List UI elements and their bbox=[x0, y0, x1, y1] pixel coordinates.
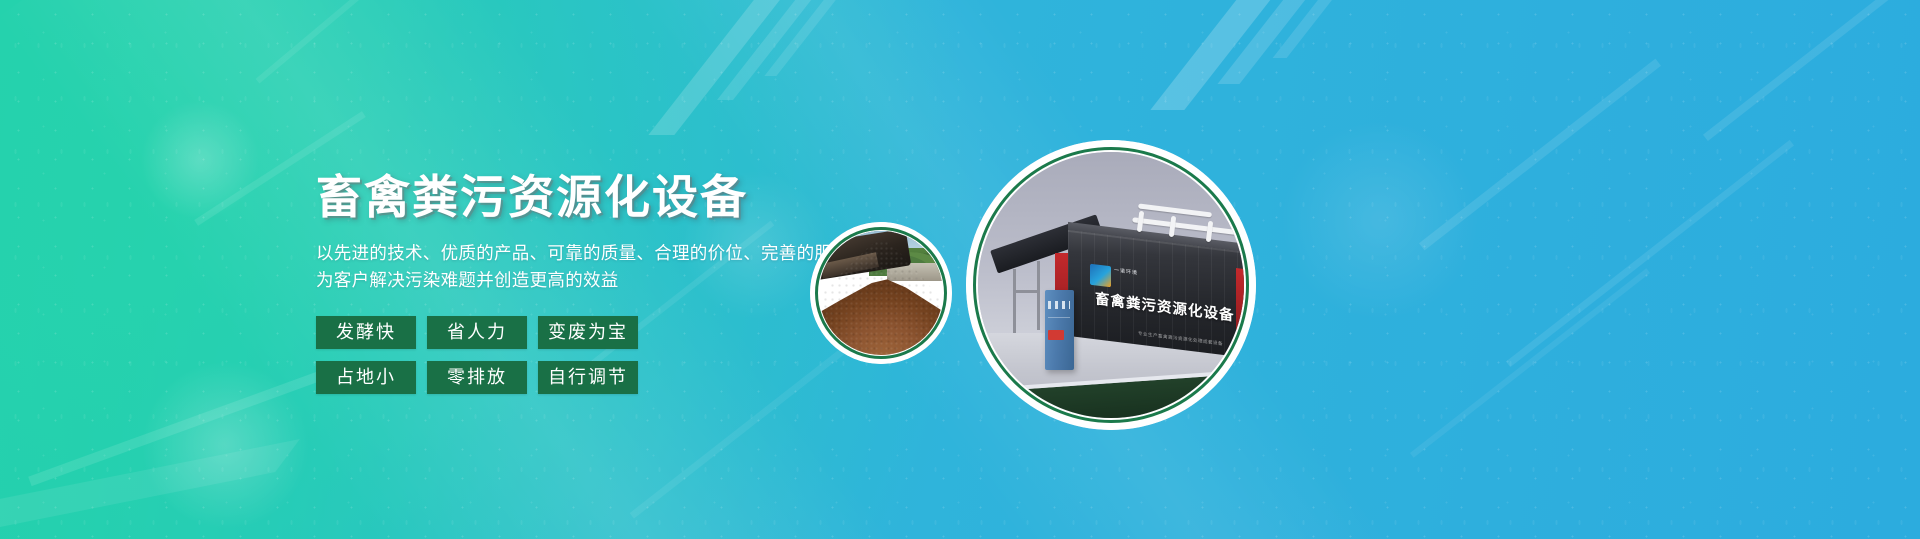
diagonal-stripe-decoration bbox=[648, 0, 787, 135]
feature-tag-labor-saving[interactable]: 省人力 bbox=[427, 316, 527, 349]
diagonal-stripe-decoration bbox=[1419, 59, 1661, 251]
subtitle-block: 以先进的技术、优质的产品、可靠的质量、合理的价位、完善的服务 为客户解决污染难题… bbox=[316, 240, 876, 294]
feature-tag-self-adjusting[interactable]: 自行调节 bbox=[538, 361, 638, 394]
page-title: 畜禽粪污资源化设备 bbox=[316, 168, 876, 226]
glow-decoration bbox=[1280, 120, 1480, 320]
cabinet-indicator-lights bbox=[1048, 301, 1069, 309]
conveyor-leg bbox=[1037, 261, 1040, 330]
diagonal-stripe-decoration bbox=[1150, 0, 1279, 110]
diagonal-stripe-decoration bbox=[1273, 0, 1342, 58]
compost-photo-circle[interactable] bbox=[810, 222, 952, 364]
diagonal-stripe-decoration bbox=[28, 364, 342, 486]
diagonal-stripe-decoration bbox=[764, 0, 843, 76]
diagonal-stripe-decoration bbox=[1217, 0, 1314, 84]
conveyor-leg-brace bbox=[1013, 290, 1040, 293]
diagonal-stripe-decoration bbox=[717, 0, 819, 100]
subtitle-line-2: 为客户解决污染难题并创造更高的效益 bbox=[316, 267, 876, 294]
promo-banner: 畜禽粪污资源化设备 以先进的技术、优质的产品、可靠的质量、合理的价位、完善的服务… bbox=[0, 0, 1920, 539]
compost-photo bbox=[819, 231, 943, 355]
subtitle-line-1: 以先进的技术、优质的产品、可靠的质量、合理的价位、完善的服务 bbox=[316, 240, 876, 267]
cabinet-emergency-button bbox=[1048, 330, 1064, 339]
diagonal-stripe-decoration bbox=[1410, 268, 1650, 457]
glow-decoration bbox=[140, 100, 260, 220]
feature-tag-zero-emission[interactable]: 零排放 bbox=[427, 361, 527, 394]
diagonal-stripe-decoration bbox=[256, 0, 375, 84]
equipment-render: 一诺环境 畜禽粪污资源化设备 专业生产畜禽粪污资源化处理成套设备 bbox=[978, 152, 1244, 418]
conveyor-leg bbox=[1013, 269, 1016, 333]
diagonal-stripe-decoration bbox=[0, 439, 300, 535]
container-red-endcap bbox=[1236, 268, 1244, 339]
glow-decoration bbox=[140, 360, 310, 530]
cabinet-divider bbox=[1048, 317, 1069, 318]
feature-tag-waste-to-treasure[interactable]: 变废为宝 bbox=[538, 316, 638, 349]
speckle-texture bbox=[0, 0, 1920, 539]
diagonal-stripe-decoration bbox=[1703, 0, 1897, 141]
banner-copy: 畜禽粪污资源化设备 以先进的技术、优质的产品、可靠的质量、合理的价位、完善的服务… bbox=[316, 168, 876, 394]
feature-tag-grid: 发酵快 省人力 变废为宝 占地小 零排放 自行调节 bbox=[316, 316, 650, 394]
feature-tag-fast-fermentation[interactable]: 发酵快 bbox=[316, 316, 416, 349]
equipment-render-circle[interactable]: 一诺环境 畜禽粪污资源化设备 专业生产畜禽粪污资源化处理成套设备 bbox=[966, 140, 1256, 430]
feature-tag-small-footprint[interactable]: 占地小 bbox=[316, 361, 416, 394]
company-logo-icon bbox=[1090, 264, 1111, 288]
diagonal-stripe-decoration bbox=[1506, 140, 1794, 367]
